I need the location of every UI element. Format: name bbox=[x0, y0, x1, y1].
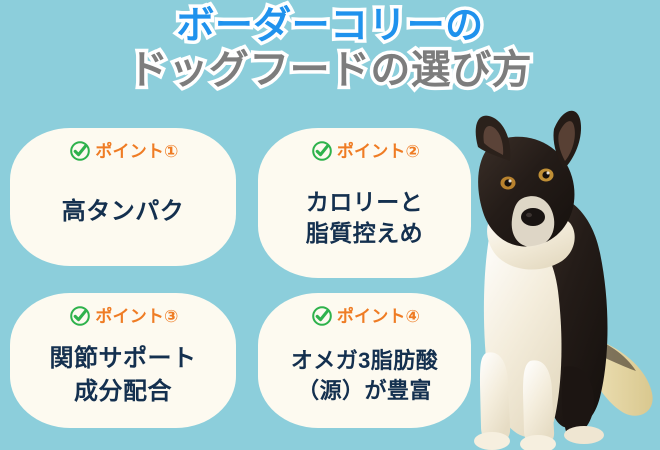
circle-check-icon bbox=[69, 140, 91, 162]
point-card-1-header: ポイント① bbox=[69, 138, 178, 164]
point-card-3-label: ポイント③ bbox=[95, 308, 178, 325]
point-card-1-body: 高タンパク bbox=[10, 164, 236, 266]
circle-check-icon bbox=[311, 140, 333, 162]
point-card-4-body: オメガ3脂肪酸 （源）が豊富 bbox=[258, 329, 471, 428]
point-card-2-label: ポイント② bbox=[337, 143, 420, 160]
point-card-2-header: ポイント② bbox=[311, 138, 420, 164]
infographic-canvas: ボーダーコリーの ドッグフードの選び方 ポイント① 高タンパク ポイント② カロ… bbox=[0, 0, 660, 450]
point-card-3-body-line-1: 関節サポート bbox=[50, 343, 197, 375]
point-card-4-header: ポイント④ bbox=[311, 303, 420, 329]
point-card-4-body-line-1: オメガ3脂肪酸 bbox=[291, 346, 438, 376]
point-card-4-body-line-2: （源）が豊富 bbox=[297, 376, 432, 406]
circle-check-icon bbox=[69, 305, 91, 327]
headline: ボーダーコリーの ドッグフードの選び方 bbox=[0, 6, 660, 92]
point-card-1-label: ポイント① bbox=[95, 143, 178, 160]
headline-line-2: ドッグフードの選び方 bbox=[0, 49, 660, 92]
point-card-3[interactable]: ポイント③ 関節サポート 成分配合 bbox=[10, 293, 236, 428]
point-card-4-label: ポイント④ bbox=[337, 308, 420, 325]
point-card-3-body: 関節サポート 成分配合 bbox=[10, 329, 236, 428]
point-card-2-body-line-1: カロリーと bbox=[306, 187, 423, 218]
point-card-2-body: カロリーと 脂質控えめ bbox=[258, 164, 471, 278]
point-card-3-body-line-2: 成分配合 bbox=[74, 376, 172, 408]
point-card-2-body-line-2: 脂質控えめ bbox=[306, 218, 423, 249]
point-card-1-body-line-1: 高タンパク bbox=[62, 196, 184, 228]
circle-check-icon bbox=[311, 305, 333, 327]
point-card-2[interactable]: ポイント② カロリーと 脂質控えめ bbox=[258, 128, 471, 278]
point-card-4[interactable]: ポイント④ オメガ3脂肪酸 （源）が豊富 bbox=[258, 293, 471, 428]
point-card-1[interactable]: ポイント① 高タンパク bbox=[10, 128, 236, 266]
headline-line-1: ボーダーコリーの bbox=[0, 6, 660, 47]
point-card-3-header: ポイント③ bbox=[69, 303, 178, 329]
